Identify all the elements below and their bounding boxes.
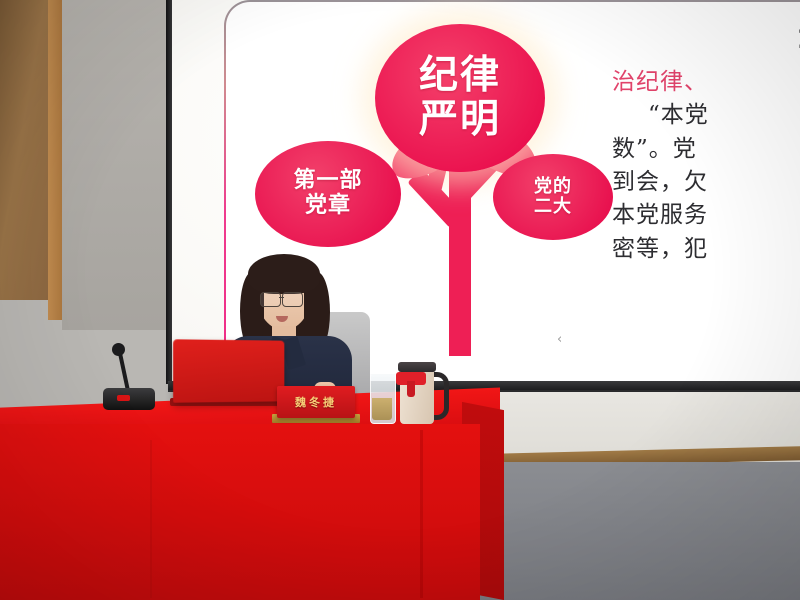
table-cloth-fold xyxy=(150,440,152,598)
bubble-left-line2: 党章 xyxy=(305,194,351,219)
table-cloth-fold xyxy=(420,430,423,598)
thermos-lid xyxy=(398,362,436,372)
chevron-left-icon[interactable]: ‹ xyxy=(557,332,562,347)
bubble-second-congress: 党的 二大 xyxy=(493,154,613,240)
glasses-bridge xyxy=(279,297,284,298)
microphone-led-indicator xyxy=(117,395,130,401)
slide-text-line: 密等，犯 xyxy=(612,233,800,266)
bubble-first-party-constitution: 第一部 党章 xyxy=(255,141,401,247)
slide-text-column: 19 治纪律、 “本党 数”。党 到会，欠 本党服务 密等，犯 xyxy=(612,24,800,266)
bubble-right-line1: 党的 xyxy=(534,177,572,197)
table-cloth-front xyxy=(0,424,480,600)
bubble-left-line1: 第一部 xyxy=(293,169,362,194)
glasses-lens-left xyxy=(260,292,281,307)
thermos-red-ribbon xyxy=(396,372,426,385)
bubble-main-line1: 纪律 xyxy=(419,54,501,98)
bubble-main-line2: 严明 xyxy=(419,98,501,142)
glasses-lens-right xyxy=(282,292,303,307)
slide-text-line: 数”。党 xyxy=(612,133,800,166)
slide-text-line: “本党 xyxy=(612,99,800,132)
bubble-right-line2: 二大 xyxy=(534,197,572,217)
laptop[interactable] xyxy=(173,339,284,402)
name-plate: 魏冬捷 xyxy=(277,386,355,418)
screenshot-root: 纪律严明重规矩 纪律 严明 第一部 党章 党的 二大 ‹ xyxy=(0,0,800,600)
microphone-head-icon xyxy=(112,343,125,356)
hair-fringe xyxy=(248,254,320,294)
bubble-discipline-strict: 纪律 严明 xyxy=(375,24,545,172)
name-plate-text: 魏冬捷 xyxy=(295,394,337,410)
slide-text-line: 本党服务 xyxy=(612,199,800,232)
tea-liquid xyxy=(372,398,392,420)
slide-text-line: 治纪律、 xyxy=(612,66,800,99)
wall-panel-gray-left xyxy=(62,0,174,330)
slide-text-line: 到会，欠 xyxy=(612,166,800,199)
slide-page-number: 19 xyxy=(612,24,800,55)
